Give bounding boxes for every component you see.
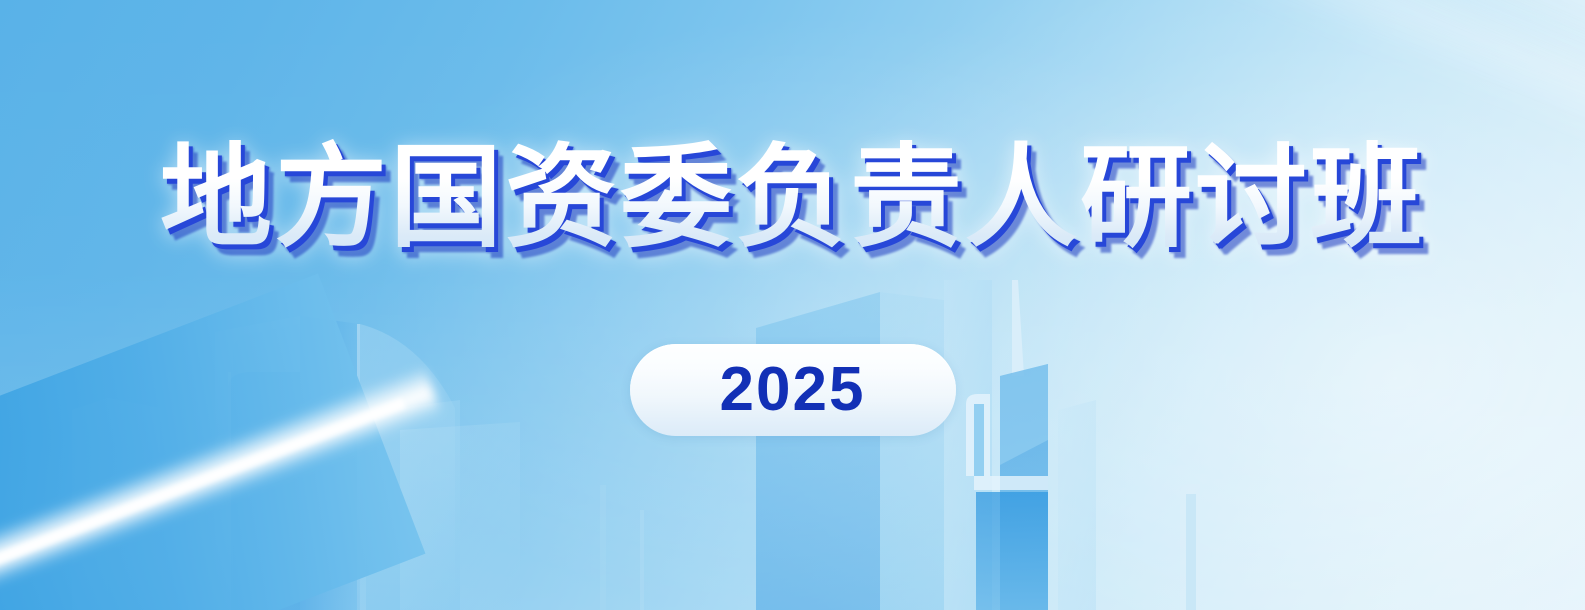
year-badge-container: 2025 — [0, 344, 1585, 436]
seminar-banner: 地方国资委负责人研讨班 2025 — [0, 0, 1585, 610]
year-badge: 2025 — [630, 344, 956, 436]
light-ray-top-right-secondary-icon — [732, 0, 1585, 187]
page-title: 地方国资委负责人研讨班 — [160, 136, 1425, 261]
headline-container: 地方国资委负责人研讨班 — [0, 136, 1585, 261]
light-ray-bottom-right-icon — [944, 556, 1585, 610]
year-badge-label: 2025 — [720, 359, 866, 421]
skyline-right-cluster — [756, 280, 1200, 610]
skyline-midfield — [600, 485, 644, 610]
